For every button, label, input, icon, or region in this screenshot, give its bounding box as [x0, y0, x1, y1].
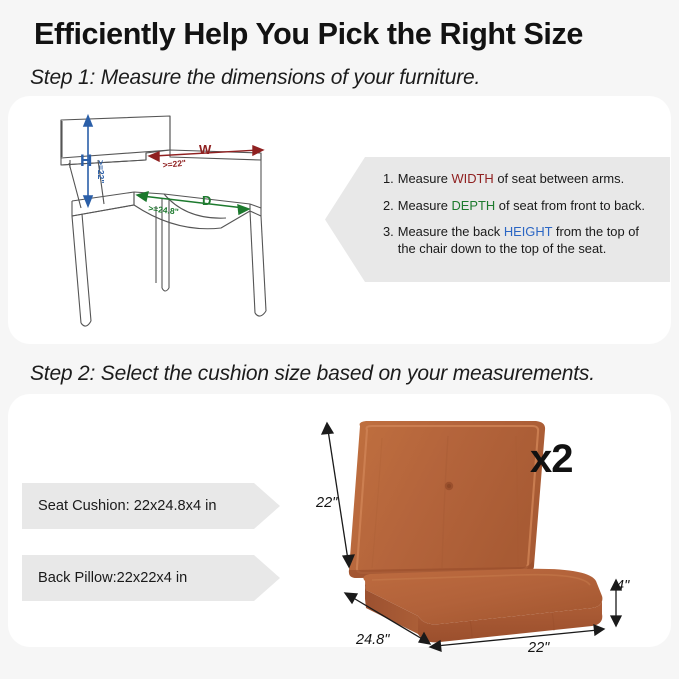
instruction-callout: 1. Measure WIDTH of seat between arms. 2… [325, 157, 670, 282]
seat-cushion-banner: Seat Cushion: 22x24.8x4 in [22, 483, 280, 529]
quantity-label: x2 [530, 437, 573, 482]
dimension-back-height: 22" [316, 495, 337, 511]
back-pillow-shape [349, 421, 545, 578]
instruction-text: Measure WIDTH of seat between arms. [398, 171, 656, 188]
keyword-depth: DEPTH [452, 198, 496, 213]
instruction-text-after: of seat from front to back. [495, 198, 645, 213]
instruction-item: 2. Measure DEPTH of seat from front to b… [383, 198, 656, 215]
dimension-seat-thickness: 4" [616, 578, 629, 594]
instruction-text-before: Measure [398, 171, 452, 186]
instruction-text: Measure DEPTH of seat from front to back… [398, 198, 656, 215]
instruction-text-after: of seat between arms. [494, 171, 624, 186]
page-title: Efficiently Help You Pick the Right Size [34, 17, 654, 52]
step1-heading: Step 1: Measure the dimensions of your f… [30, 66, 480, 90]
instruction-number: 2. [383, 198, 394, 215]
seat-cushion-label: Seat Cushion: 22x24.8x4 in [38, 498, 217, 514]
instruction-text-before: Measure the back [398, 224, 504, 239]
instruction-number: 3. [383, 224, 394, 241]
keyword-height: HEIGHT [504, 224, 552, 239]
chair-diagram: H >=22" W >=22" D >=24.8" [36, 108, 326, 343]
svg-text:>=22": >=22" [96, 160, 106, 183]
cushion-illustration [320, 418, 670, 653]
svg-text:W: W [199, 142, 212, 157]
seat-cushion-shape [363, 569, 602, 643]
dimension-seat-depth: 24.8" [356, 632, 389, 648]
instruction-text: Measure the back HEIGHT from the top of … [398, 224, 656, 257]
instruction-item: 1. Measure WIDTH of seat between arms. [383, 171, 656, 188]
instruction-item: 3. Measure the back HEIGHT from the top … [383, 224, 656, 257]
svg-text:D: D [202, 193, 211, 208]
keyword-width: WIDTH [452, 171, 494, 186]
dimension-seat-width: 22" [528, 640, 549, 656]
back-pillow-banner: Back Pillow:22x22x4 in [22, 555, 280, 601]
back-pillow-label: Back Pillow:22x22x4 in [38, 570, 187, 586]
instruction-number: 1. [383, 171, 394, 188]
svg-text:>=22": >=22" [162, 158, 186, 170]
instruction-text-before: Measure [398, 198, 452, 213]
svg-text:>=24.8": >=24.8" [148, 203, 180, 217]
infographic-page: Efficiently Help You Pick the Right Size… [0, 0, 679, 679]
svg-text:H: H [80, 151, 92, 170]
step2-heading: Step 2: Select the cushion size based on… [30, 362, 595, 386]
